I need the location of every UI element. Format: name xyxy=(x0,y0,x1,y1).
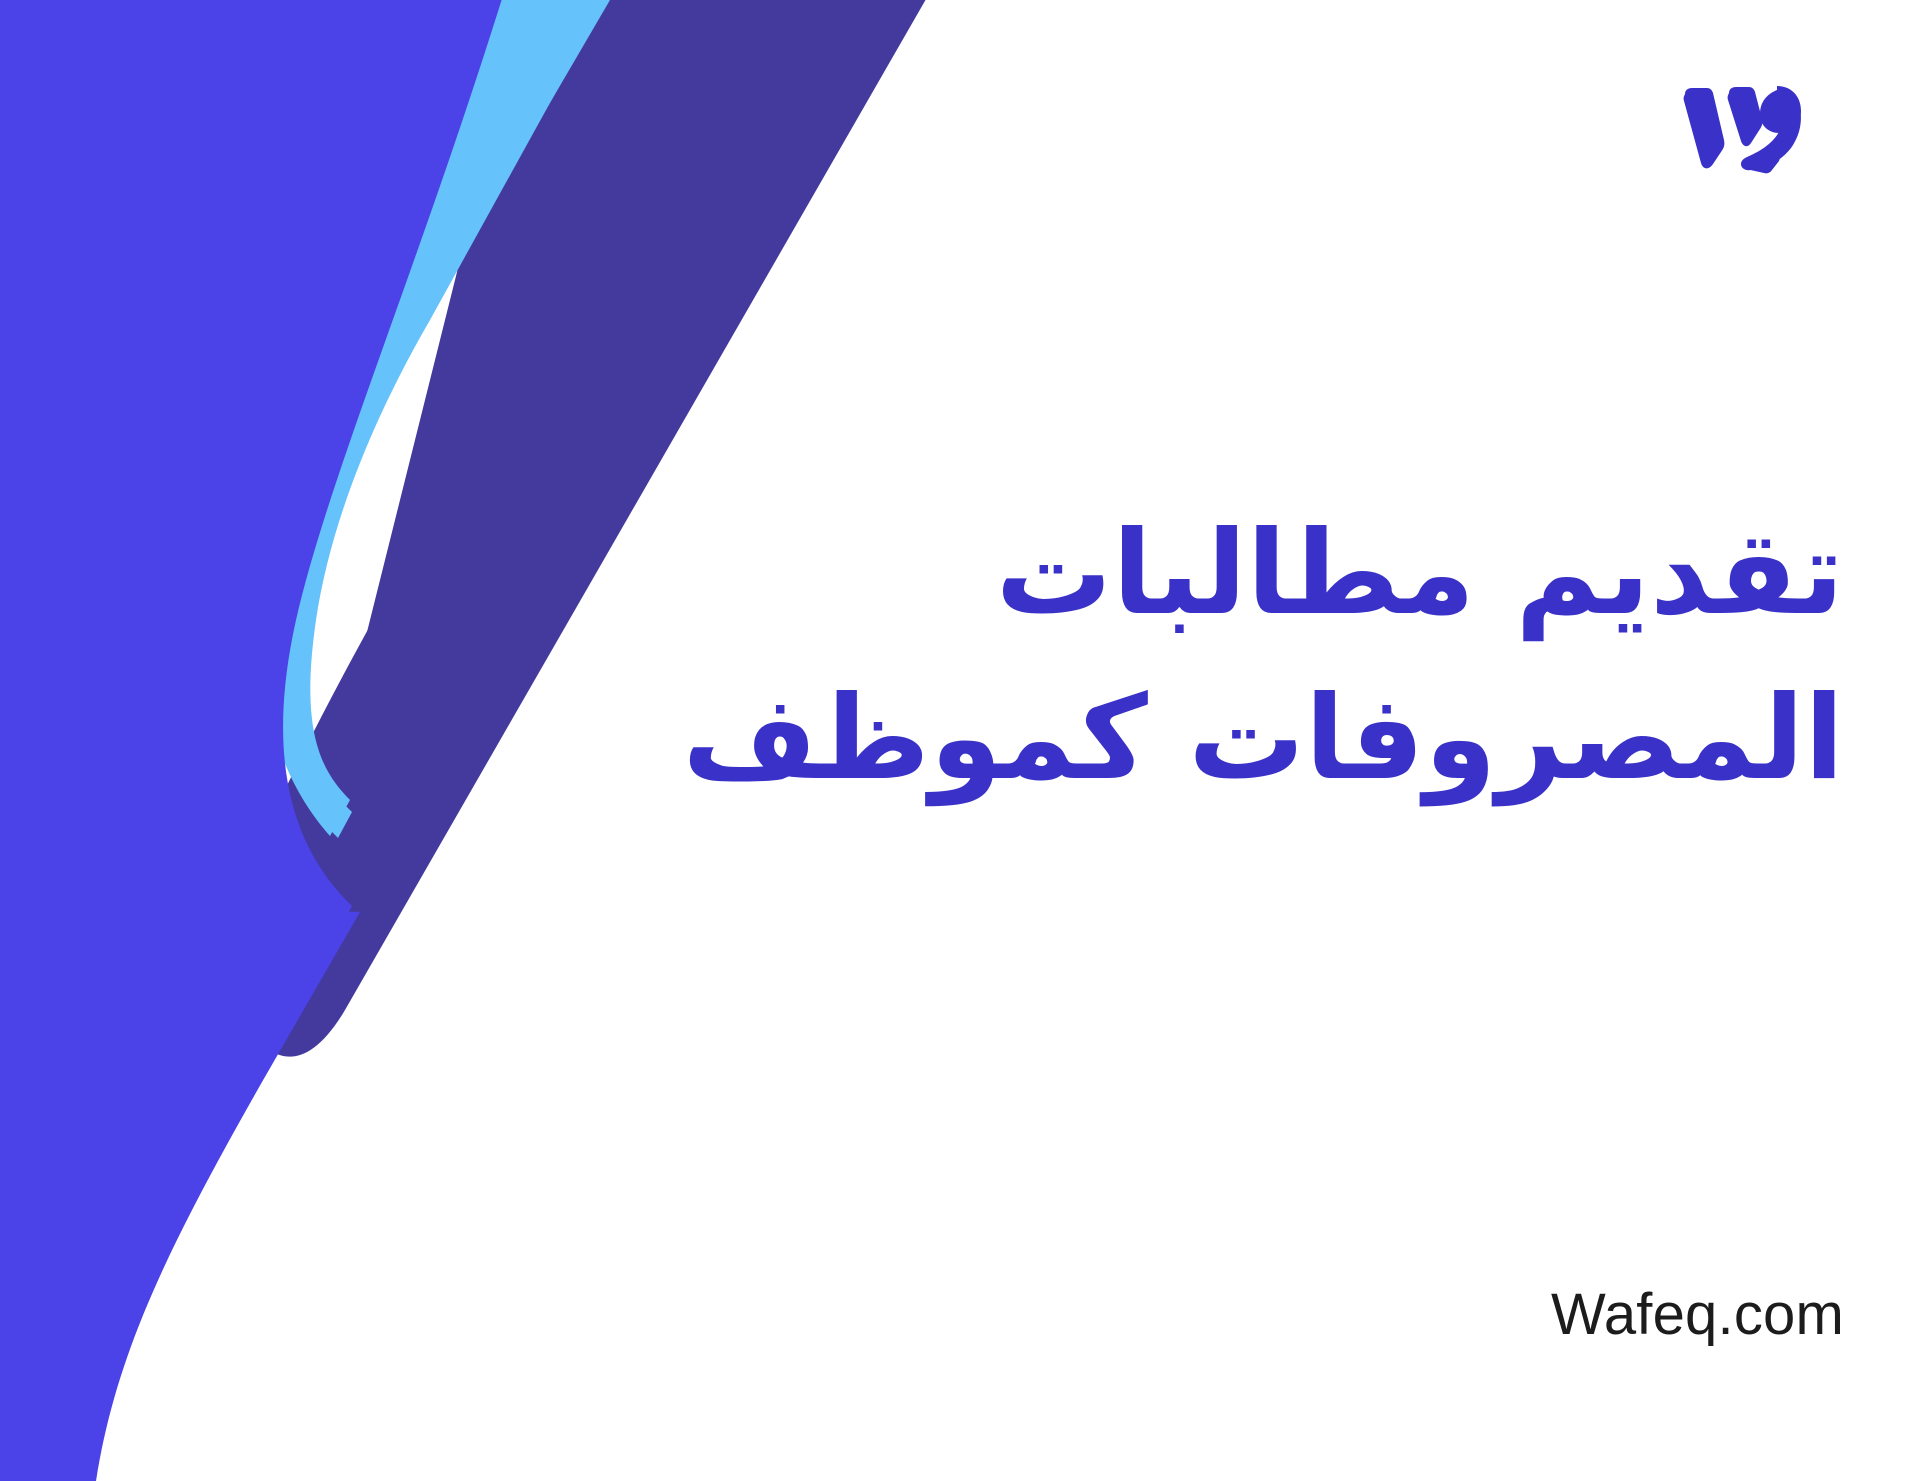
logo-bottom-flare xyxy=(1741,154,1780,173)
page-title-line-2: المصروفات كموظف xyxy=(784,657,1844,822)
slide-canvas: تقديم مطالبات المصروفات كموظف Wafeq.com xyxy=(0,0,1920,1481)
logo-stroke-middle xyxy=(1728,87,1763,146)
wafeq-logo xyxy=(1679,78,1807,174)
site-url-label: Wafeq.com xyxy=(1551,1283,1844,1347)
indigo-bottom-curve-shape xyxy=(0,900,360,1481)
light-blue-fill-shape xyxy=(267,0,645,838)
page-title: تقديم مطالبات المصروفات كموظف xyxy=(784,492,1844,821)
page-title-line-1: تقديم مطالبات xyxy=(784,492,1844,657)
light-blue-band-shape xyxy=(264,0,640,836)
logo-stroke-left xyxy=(1684,88,1725,168)
indigo-band-shape xyxy=(0,0,520,1481)
